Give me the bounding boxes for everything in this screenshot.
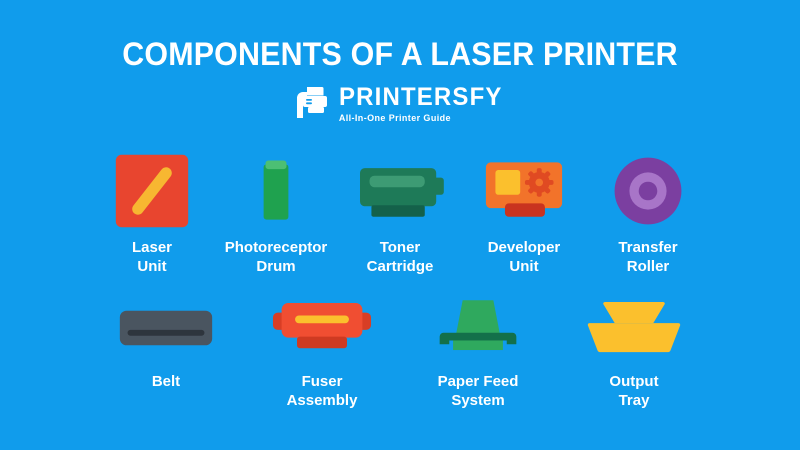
brand-tagline: All-In-One Printer Guide (339, 114, 451, 123)
component-label-output-tray: Output Tray (609, 372, 658, 410)
component-belt: Belt (110, 296, 222, 391)
component-output-tray: Output Tray (578, 296, 690, 410)
fuser-assembly-icon (272, 296, 372, 360)
brand-logo: PRINTERSFY All-In-One Printer Guide (0, 84, 800, 124)
laser-unit-icon (112, 150, 192, 232)
component-transfer-roller: Transfer Roller (592, 150, 704, 276)
brand-name: PRINTERSFY (339, 85, 503, 110)
component-fuser-assembly: Fuser Assembly (266, 296, 378, 410)
component-row-2: Belt Fuser Assembly (0, 296, 800, 410)
component-label-laser-unit: Laser Unit (132, 238, 172, 276)
component-label-toner-cartridge: Toner Cartridge (367, 238, 434, 276)
transfer-roller-icon (609, 150, 687, 232)
component-label-belt: Belt (152, 372, 180, 391)
component-label-fuser-assembly: Fuser Assembly (287, 372, 358, 410)
component-laser-unit: Laser Unit (96, 150, 208, 276)
component-toner-cartridge: Toner Cartridge (344, 150, 456, 276)
developer-unit-icon (480, 150, 568, 232)
component-photoreceptor-drum: Photoreceptor Drum (220, 150, 332, 276)
paper-feed-system-icon (432, 296, 524, 360)
component-label-transfer-roller: Transfer Roller (618, 238, 677, 276)
component-label-developer-unit: Developer Unit (488, 238, 561, 276)
component-paper-feed-system: Paper Feed System (422, 296, 534, 410)
component-label-paper-feed-system: Paper Feed System (438, 372, 519, 410)
belt-icon (116, 296, 216, 360)
photoreceptor-drum-icon (236, 150, 316, 232)
component-row-1: Laser Unit Photoreceptor Drum (0, 150, 800, 276)
printer-icon (291, 84, 331, 124)
output-tray-icon (582, 296, 686, 360)
toner-cartridge-icon (350, 150, 450, 232)
component-label-photoreceptor-drum: Photoreceptor Drum (225, 238, 328, 276)
component-developer-unit: Developer Unit (468, 150, 580, 276)
infographic-canvas: COMPONENTS OF A LASER PRINTER PRINTERSFY… (0, 0, 800, 450)
page-title: COMPONENTS OF A LASER PRINTER (20, 36, 780, 72)
brand-text: PRINTERSFY All-In-One Printer Guide (339, 85, 509, 123)
